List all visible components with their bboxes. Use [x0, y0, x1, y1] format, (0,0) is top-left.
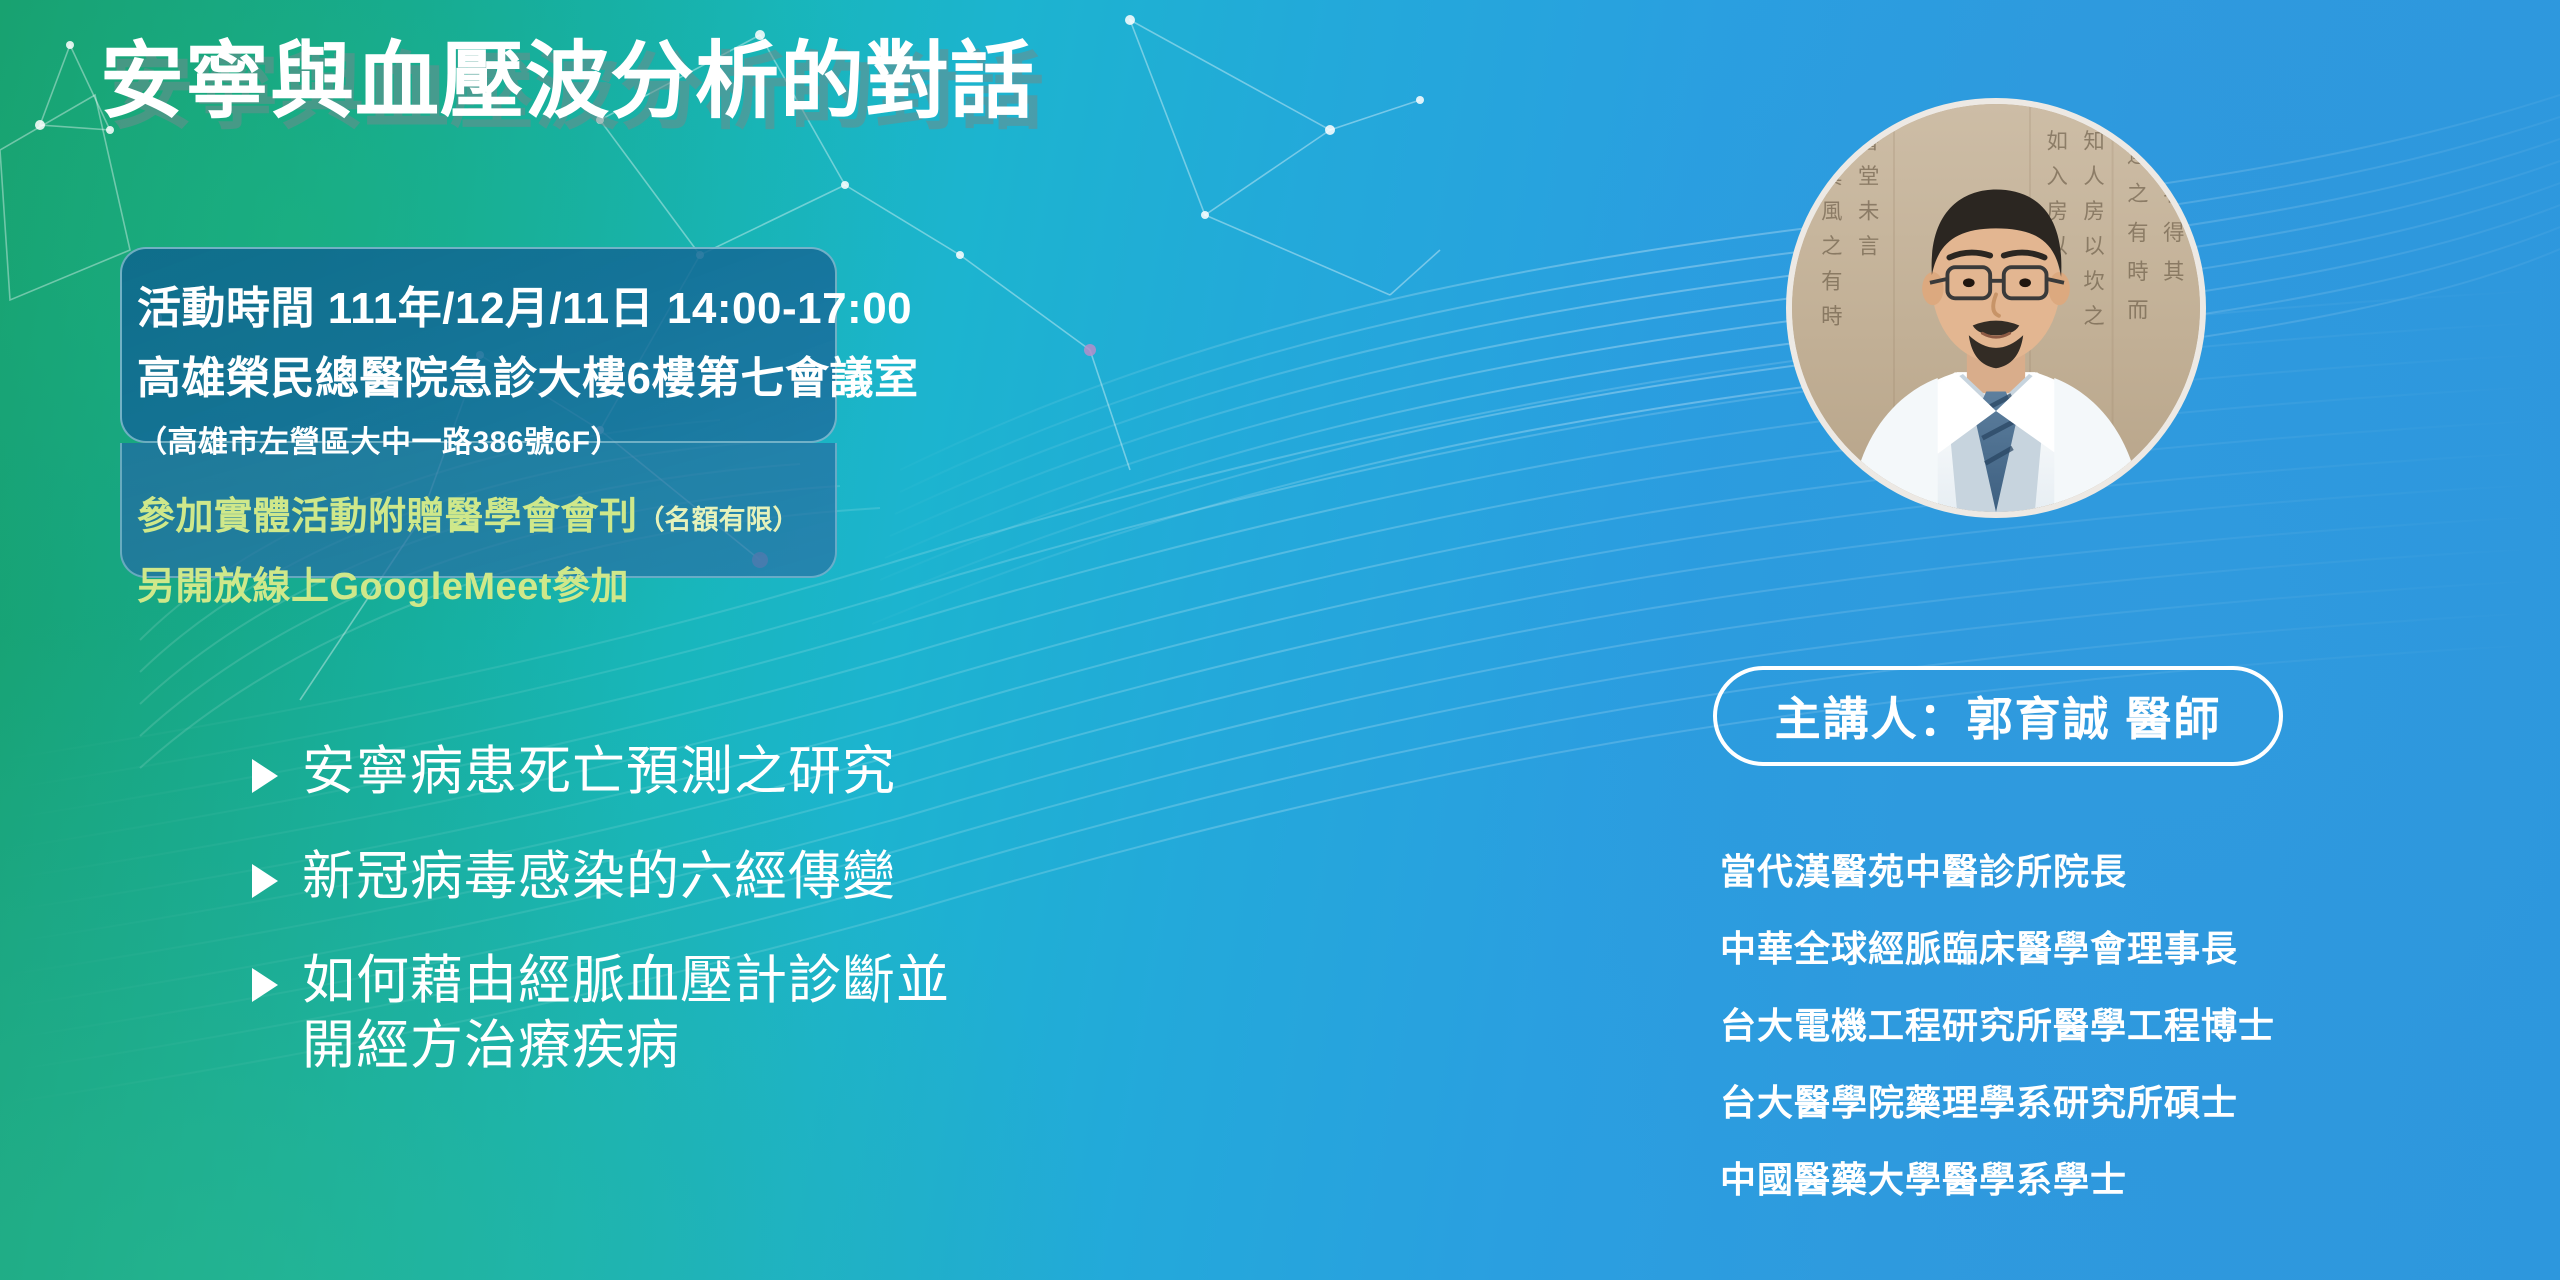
- page-title: 安寧與血壓波分析的對話: [100, 34, 1035, 128]
- svg-text:知: 知: [2083, 130, 2104, 155]
- svg-text:人: 人: [2083, 165, 2104, 190]
- avatar: 古真風 之有時 書堂未 言 知人房 以坎之 如入房 以 連之有 時而 天者得 其: [1792, 104, 2200, 512]
- event-address: （高雄市左營區大中一路386號6F）: [137, 417, 621, 461]
- topic-list: 安寧病患死亡預測之研究 新冠病毒感染的六經傳變 如何藉由經脈血壓計診斷並 開經方…: [252, 740, 950, 1119]
- list-item: 新冠病毒感染的六經傳變: [252, 845, 950, 910]
- svg-text:如: 如: [2047, 130, 2068, 155]
- svg-text:有: 有: [2127, 221, 2148, 246]
- svg-text:入: 入: [2047, 165, 2068, 190]
- svg-text:風: 風: [1821, 200, 1842, 225]
- svg-text:之: 之: [2127, 182, 2148, 207]
- speaker-credentials: 當代漢醫苑中醫診所院長 中華全球經脈臨床醫學會理事長 台大電機工程研究所醫學工程…: [1720, 843, 2275, 1228]
- svg-text:言: 言: [1858, 235, 1879, 260]
- svg-text:之: 之: [1821, 235, 1842, 260]
- svg-text:堂: 堂: [1858, 165, 1879, 190]
- svg-text:真: 真: [1821, 165, 1842, 190]
- svg-text:古: 古: [1821, 130, 1842, 155]
- credential-item: 中國醫藥大學醫學系學士: [1720, 1151, 2275, 1203]
- credential-item: 台大電機工程研究所醫學工程博士: [1720, 997, 2275, 1049]
- svg-text:時: 時: [1821, 305, 1842, 330]
- svg-text:書: 書: [1858, 130, 1879, 155]
- svg-text:而: 而: [2127, 299, 2148, 324]
- triangle-bullet-icon: [252, 759, 278, 793]
- svg-text:其: 其: [2163, 260, 2184, 285]
- list-item: 如何藉由經脈血壓計診斷並 開經方治療疾病: [252, 949, 950, 1078]
- svg-text:以: 以: [2083, 235, 2104, 260]
- svg-text:得: 得: [2163, 221, 2184, 246]
- svg-text:天: 天: [2163, 143, 2184, 168]
- svg-text:者: 者: [2163, 182, 2184, 207]
- event-poster: 安寧與血壓波分析的對話 活動時間 111年/12月/11日 14:00-17:0…: [0, 0, 2560, 1280]
- gift-limit-text: （名額有限）: [638, 505, 800, 535]
- svg-text:之: 之: [2083, 305, 2104, 330]
- credential-item: 中華全球經脈臨床醫學會理事長: [1720, 920, 2275, 972]
- triangle-bullet-icon: [252, 968, 278, 1002]
- speaker-name-badge: 主講人：郭育誠 醫師: [1713, 666, 2283, 766]
- credential-item: 台大醫學院藥理學系研究所碩士: [1720, 1074, 2275, 1126]
- topic-label: 安寧病患死亡預測之研究: [302, 740, 896, 805]
- topic-label: 如何藉由經脈血壓計診斷並 開經方治療疾病: [302, 949, 950, 1078]
- event-venue: 高雄榮民總醫院急診大樓6樓第七會議室: [137, 342, 918, 406]
- event-online-option: 另開放線上GoogleMeet參加: [137, 555, 629, 610]
- event-time: 活動時間 111年/12月/11日 14:00-17:00: [137, 272, 912, 336]
- svg-text:連: 連: [2127, 143, 2148, 168]
- portrait-ring: 古真風 之有時 書堂未 言 知人房 以坎之 如入房 以 連之有 時而 天者得 其: [1786, 98, 2206, 518]
- event-gift-note: 參加實體活動附贈醫學會會刊（名額有限）: [137, 485, 800, 540]
- topic-label: 新冠病毒感染的六經傳變: [302, 845, 896, 910]
- svg-text:坎: 坎: [2083, 270, 2104, 295]
- svg-text:時: 時: [2127, 260, 2148, 285]
- svg-text:有: 有: [1821, 270, 1842, 295]
- speaker-name-label: 主講人：郭育誠 醫師: [1775, 683, 2222, 749]
- gift-main-text: 參加實體活動附贈醫學會會刊: [137, 496, 638, 538]
- list-item: 安寧病患死亡預測之研究: [252, 740, 950, 805]
- svg-text:房: 房: [2083, 200, 2104, 225]
- speaker-portrait: 古真風 之有時 書堂未 言 知人房 以坎之 如入房 以 連之有 時而 天者得 其: [1786, 98, 2206, 518]
- triangle-bullet-icon: [252, 864, 278, 898]
- credential-item: 當代漢醫苑中醫診所院長: [1720, 843, 2275, 895]
- svg-text:未: 未: [1858, 200, 1879, 225]
